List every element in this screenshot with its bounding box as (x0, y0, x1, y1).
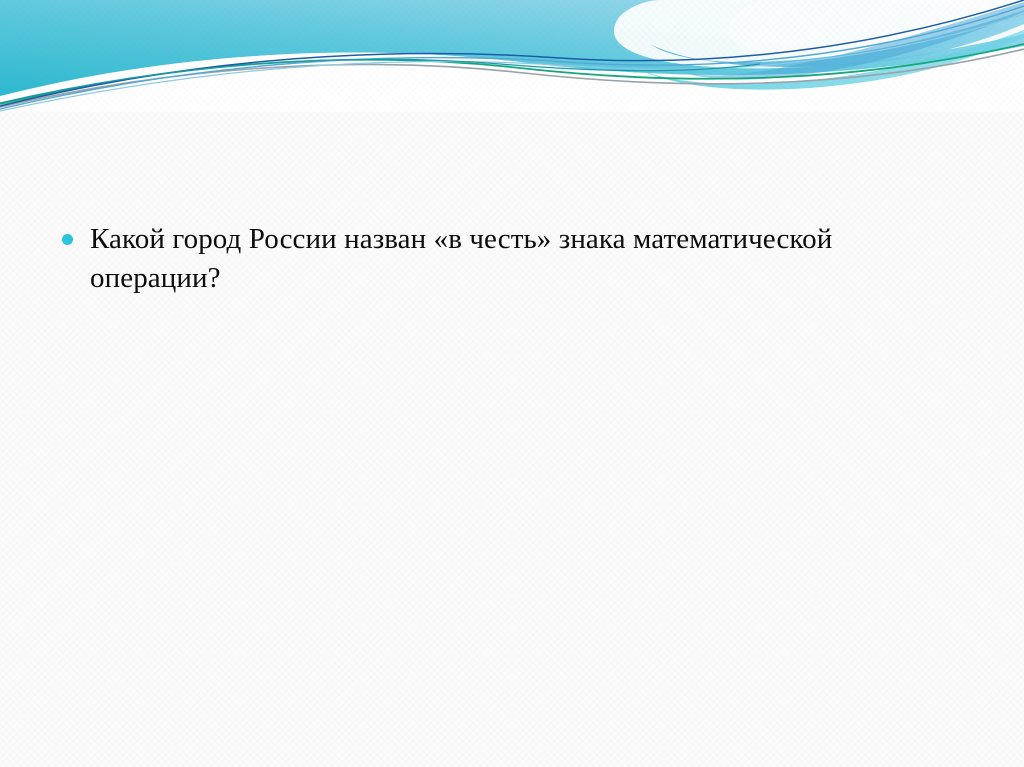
bullet-text: Какой город России назван «в честь» знак… (90, 220, 876, 297)
wave-banner-graphic (0, 0, 1024, 112)
slide-content-area: Какой город России назван «в честь» знак… (0, 112, 1024, 767)
bullet-point-icon (62, 234, 73, 245)
decorative-wave-banner (0, 0, 1024, 112)
body-text-placeholder[interactable]: Какой город России назван «в честь» знак… (56, 220, 876, 297)
list-item: Какой город России назван «в честь» знак… (56, 220, 876, 297)
slide: Какой город России назван «в честь» знак… (0, 0, 1024, 767)
